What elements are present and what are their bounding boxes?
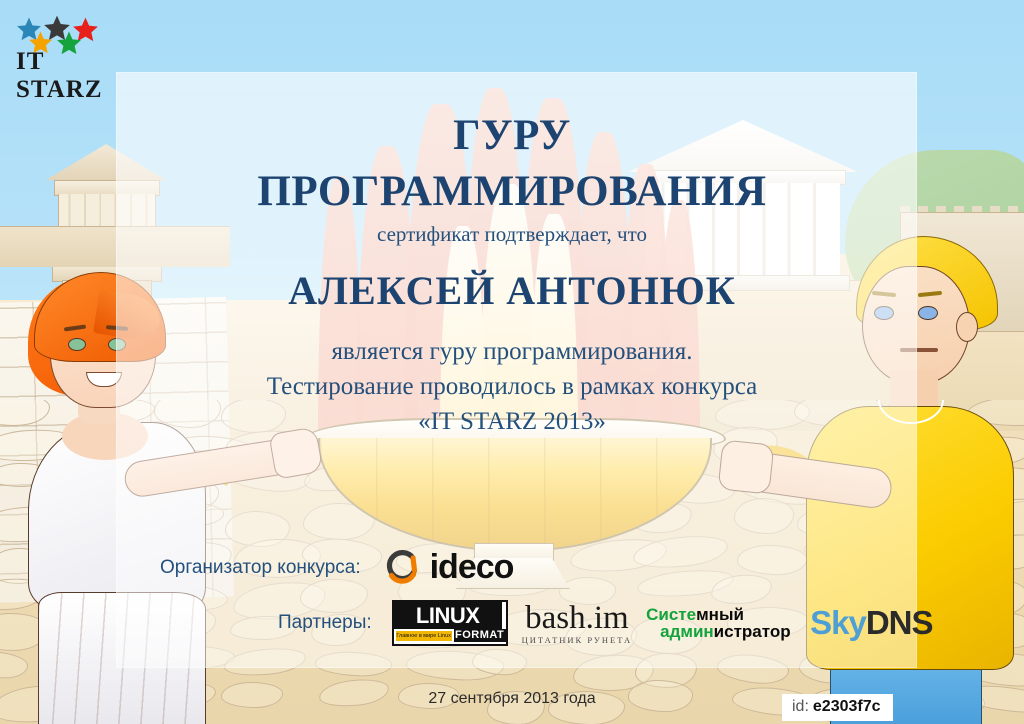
skydns-dns: DNS	[866, 604, 933, 641]
linux-format-word: LINUX	[394, 602, 502, 629]
sysadmin-line-2-rest: истратор	[714, 622, 791, 641]
partners-label: Партнеры:	[278, 612, 372, 634]
certificate-content: ГУРУ ПРОГРАММИРОВАНИЯ сертификат подтвер…	[0, 0, 1024, 724]
skydns-logo[interactable]: SkyDNS	[810, 604, 932, 642]
linux-format-tagline: Главное в мире Linux	[396, 631, 452, 641]
linux-format-logo[interactable]: LINUX Главное в мире Linux FORMAT	[392, 600, 508, 646]
ideco-swoosh-icon	[383, 549, 421, 587]
bash-im-word: bash.im	[522, 602, 632, 635]
sysadmin-line-2: администратор	[660, 622, 791, 642]
partners-row: Партнеры: LINUX Главное в мире Linux FOR…	[278, 600, 933, 646]
body-line-3: «IT STARZ 2013»	[0, 404, 1024, 439]
certificate-id-value: e2303f7c	[813, 698, 881, 715]
organizer-label: Организатор конкурса:	[160, 557, 361, 579]
organizer-row: Организатор конкурса: ideco	[160, 548, 513, 587]
confirmation-text: сертификат подтверждает, что	[0, 222, 1024, 247]
skydns-sky: Sky	[810, 604, 866, 641]
title-line-2: ПРОГРАММИРОВАНИЯ	[0, 164, 1024, 220]
body-line-1: является гуру программирования.	[0, 334, 1024, 369]
certificate-id-badge: id:e2303f7c	[782, 694, 893, 721]
it-starz-logo[interactable]: IT STARZ	[14, 14, 110, 78]
it-starz-wordmark: IT STARZ	[16, 48, 110, 104]
ideco-logo[interactable]: ideco	[383, 548, 514, 587]
it-starz-stars-icon	[14, 14, 110, 48]
ideco-wordmark: ideco	[430, 548, 514, 587]
sysadmin-line-2-accent: админ	[660, 622, 714, 641]
title-line-1: ГУРУ	[453, 112, 571, 159]
linux-format-suffix: FORMAT	[454, 629, 506, 642]
certificate-id-label: id:	[792, 698, 809, 715]
certificate-canvas: ГУРУ ПРОГРАММИРОВАНИЯ сертификат подтвер…	[0, 0, 1024, 724]
bash-im-logo[interactable]: bash.im ЦИТАТНИК РУНЕТА	[522, 602, 632, 645]
bash-im-tagline: ЦИТАТНИК РУНЕТА	[522, 635, 632, 645]
sistemny-administrator-logo[interactable]: Системный администратор	[646, 605, 796, 641]
certificate-body: является гуру программирования. Тестиров…	[0, 334, 1024, 439]
body-line-2: Тестирование проводилось в рамках конкур…	[0, 369, 1024, 404]
recipient-name: АЛЕКСЕЙ АНТОНЮК	[0, 267, 1024, 314]
certificate-title: ГУРУ ПРОГРАММИРОВАНИЯ	[0, 108, 1024, 220]
